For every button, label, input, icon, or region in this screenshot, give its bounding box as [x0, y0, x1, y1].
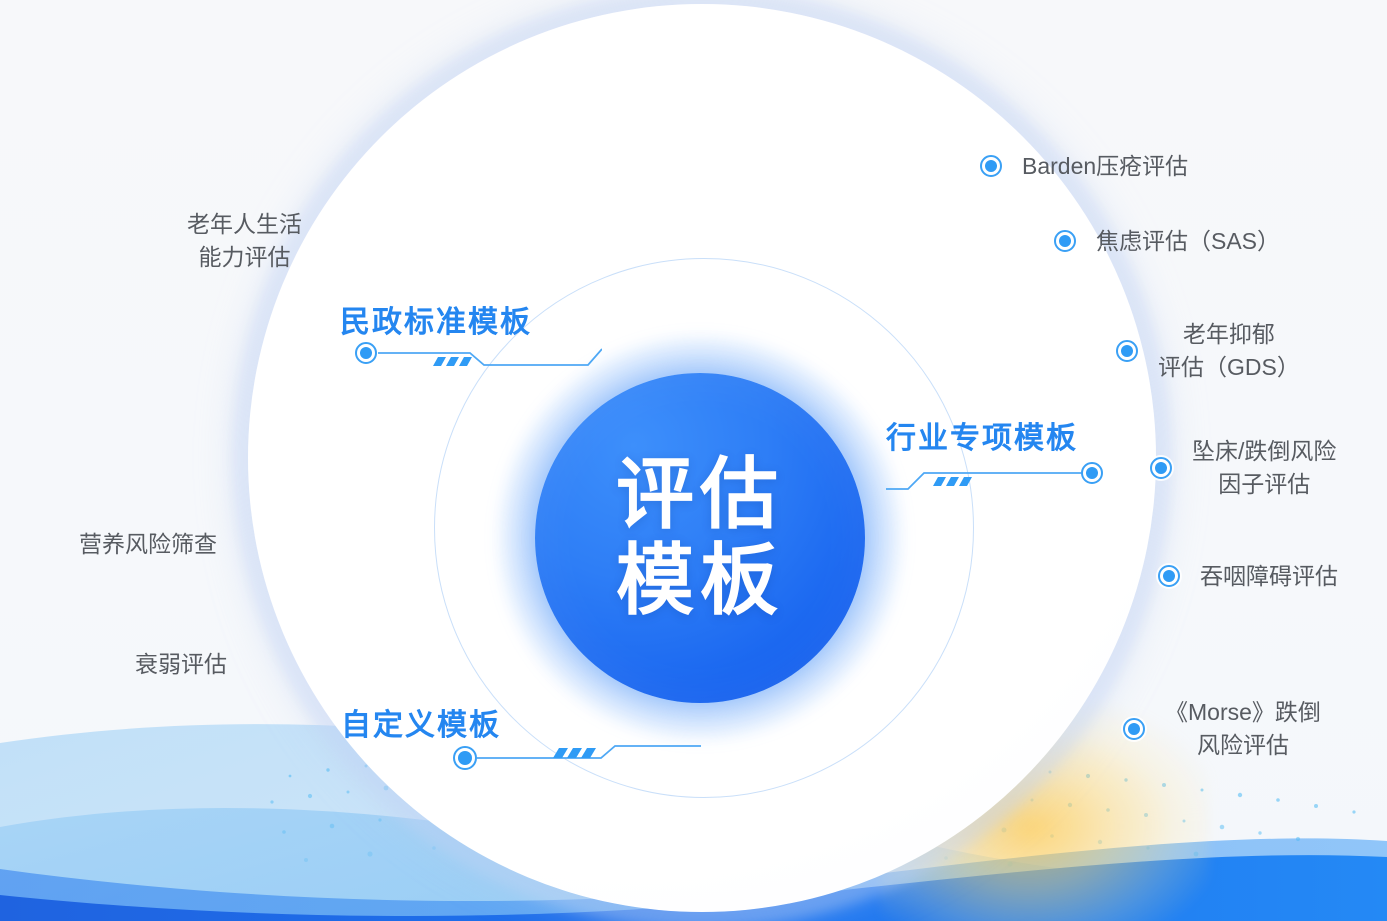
spoke-dot-icon [1123, 718, 1145, 740]
category-minzheng[interactable]: 民政标准模板 [340, 297, 532, 341]
spoke-sas-label: 焦虑评估（SAS） [1096, 225, 1280, 258]
spoke-morse-label: 《Morse》跌倒 风险评估 [1165, 696, 1321, 761]
spoke-dot-icon [1116, 340, 1138, 362]
spoke-frailty-label: 衰弱评估 [135, 648, 227, 681]
category-custom-label: 自定义模板 [341, 700, 501, 744]
connector-line-minzheng-icon [352, 341, 602, 375]
spoke-dot-icon [980, 155, 1002, 177]
category-industry-label: 行业专项模板 [886, 413, 1078, 457]
connector-line-industry-icon [886, 457, 1106, 491]
spoke-sas[interactable]: 焦虑评估（SAS） [1054, 225, 1280, 258]
infographic-canvas: 评估 模板 民政标准模板 行业专项模板 [0, 0, 1387, 921]
spoke-dot-icon [1158, 565, 1180, 587]
core-title-line1: 评估 [616, 452, 784, 538]
spoke-morse[interactable]: 《Morse》跌倒 风险评估 [1123, 696, 1321, 761]
category-custom[interactable]: 自定义模板 [341, 700, 501, 744]
connector-line-custom-icon [451, 742, 701, 776]
spoke-nutrition[interactable]: 营养风险筛查 [0, 528, 237, 561]
spoke-adl-label: 老年人生活 能力评估 [187, 208, 302, 273]
spoke-gds-label: 老年抑郁 评估（GDS） [1158, 318, 1300, 383]
core-title: 评估 模板 [616, 452, 784, 624]
spoke-dot-icon [1150, 457, 1172, 479]
spoke-frailty[interactable]: 衰弱评估 [0, 648, 247, 681]
spoke-swallow[interactable]: 吞咽障碍评估 [1158, 560, 1338, 593]
spoke-adl[interactable]: 老年人生活 能力评估 [0, 208, 322, 273]
spoke-barden-label: Barden压疮评估 [1022, 150, 1188, 183]
spoke-fall-risk-label: 坠床/跌倒风险 因子评估 [1192, 435, 1336, 500]
core-title-line2: 模板 [616, 538, 784, 624]
spoke-fall-risk[interactable]: 坠床/跌倒风险 因子评估 [1150, 435, 1336, 500]
core-circle[interactable]: 评估 模板 [535, 373, 865, 703]
spoke-barden[interactable]: Barden压疮评估 [980, 150, 1188, 183]
spoke-nutrition-label: 营养风险筛查 [79, 528, 217, 561]
spoke-gds[interactable]: 老年抑郁 评估（GDS） [1116, 318, 1300, 383]
category-industry[interactable]: 行业专项模板 [886, 413, 1078, 457]
spoke-swallow-label: 吞咽障碍评估 [1200, 560, 1338, 593]
spoke-dot-icon [1054, 230, 1076, 252]
category-minzheng-label: 民政标准模板 [340, 297, 532, 341]
